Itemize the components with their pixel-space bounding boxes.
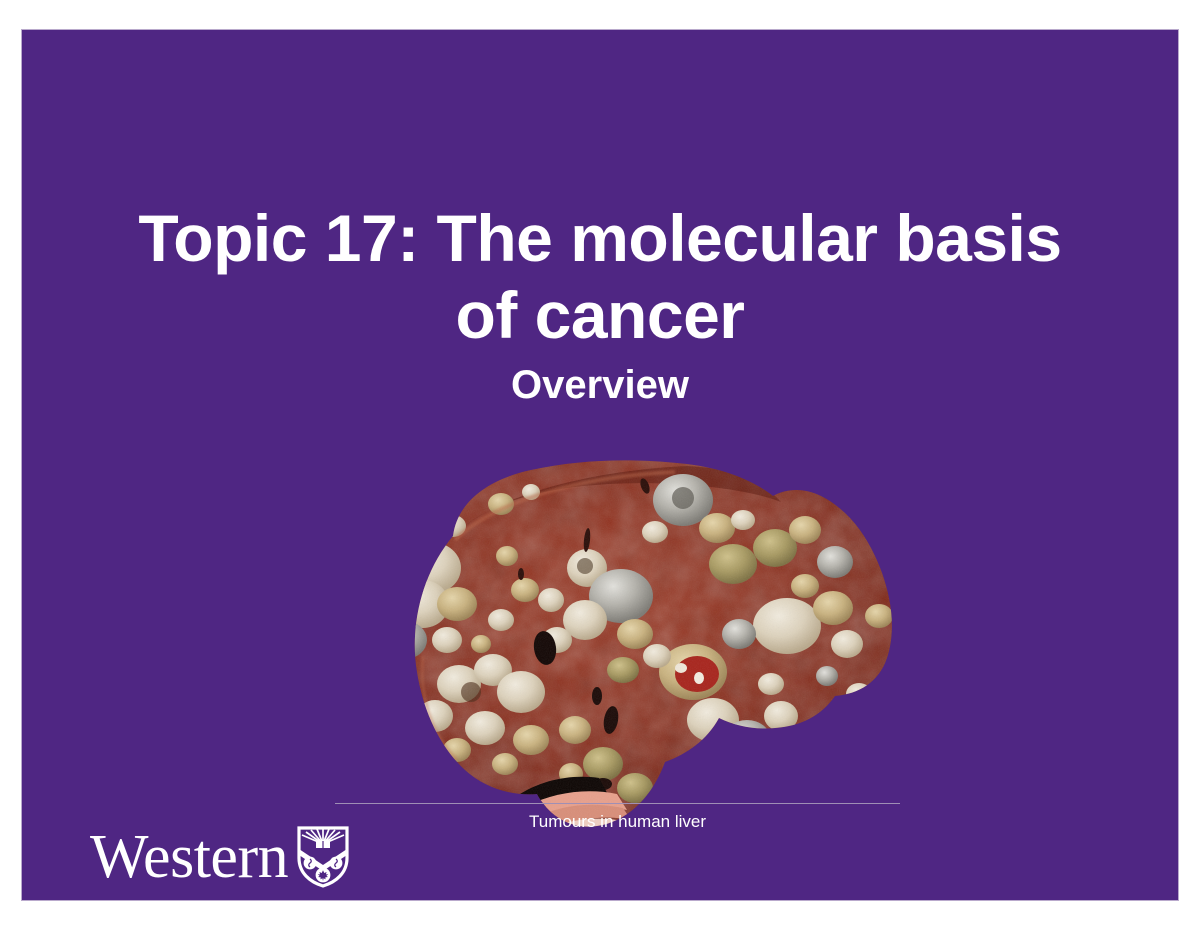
caption-divider xyxy=(335,803,900,804)
title-block: Topic 17: The molecular basis of cancer … xyxy=(22,200,1178,407)
western-logo: Western xyxy=(90,825,350,889)
liver-gross-pathology-image xyxy=(335,444,935,834)
western-university-shield-icon xyxy=(296,825,350,889)
page-title: Topic 17: The molecular basis of cancer xyxy=(22,200,1178,353)
slide-canvas: Topic 17: The molecular basis of cancer … xyxy=(21,29,1179,901)
page-subtitle: Overview xyxy=(22,363,1178,407)
figure-caption: Tumours in human liver xyxy=(335,812,900,832)
western-wordmark: Western xyxy=(90,826,288,888)
figure-liver-photo xyxy=(335,444,935,834)
